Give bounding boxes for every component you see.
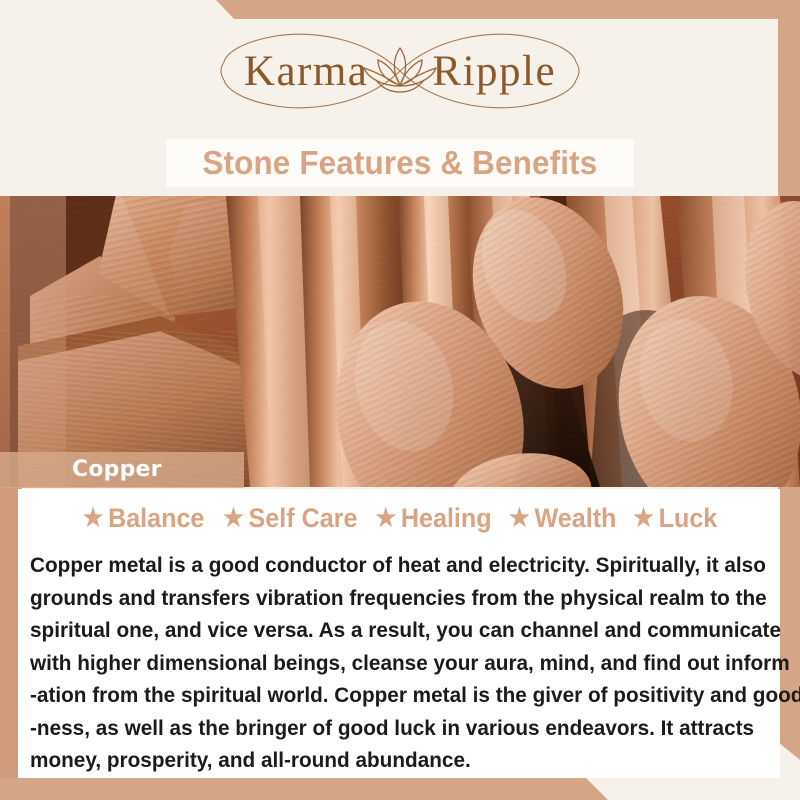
benefit-label: Wealth (535, 505, 617, 532)
benefit-item: ★ Self Care (223, 505, 357, 532)
infographic-page: Karma Ripple Stone Features & Benefits (0, 0, 800, 800)
description-line: Copper metal is a good conductor of heat… (30, 549, 744, 582)
benefits-list: ★ Balance ★ Self Care ★ Healing ★ Wealth… (18, 505, 780, 532)
decorative-bottom-band (0, 778, 640, 800)
copper-bars-illustration (0, 196, 800, 487)
benefit-label: Luck (658, 505, 717, 532)
section-title-banner: Stone Features & Benefits (166, 139, 634, 187)
section-title: Stone Features & Benefits (203, 144, 598, 182)
benefit-item: ★ Balance (82, 505, 204, 532)
description-line: with higher dimensional beings, cleanse … (30, 647, 744, 680)
logo-word-left: Karma (244, 50, 369, 93)
benefit-item: ★ Healing (376, 505, 492, 532)
benefit-item: ★ Wealth (509, 505, 616, 532)
benefit-label: Balance (108, 505, 204, 532)
description-line: -ness, as well as the bringer of good lu… (30, 712, 744, 745)
benefit-item: ★ Luck (633, 505, 717, 532)
stone-name-label: Copper (72, 459, 162, 481)
star-icon: ★ (633, 506, 654, 531)
copper-photo (0, 196, 800, 487)
decorative-top-band (0, 0, 800, 19)
brand-logo: Karma Ripple (0, 24, 800, 118)
star-icon: ★ (509, 506, 530, 531)
description-line: -ation from the spiritual world. Copper … (30, 679, 744, 712)
logo-word-right: Ripple (432, 50, 556, 93)
description-line: grounds and transfers vibration frequenc… (30, 582, 744, 615)
description-text: Copper metal is a good conductor of heat… (30, 549, 744, 777)
benefit-label: Self Care (248, 505, 357, 532)
description-line: money, prosperity, and all-round abundan… (30, 744, 744, 777)
stone-name-badge: Copper (0, 452, 244, 488)
logo-wordmark: Karma Ripple (244, 50, 556, 93)
content-card: ★ Balance ★ Self Care ★ Healing ★ Wealth… (18, 489, 780, 778)
description-line: spiritual one, and vice versa. As a resu… (30, 614, 744, 647)
star-icon: ★ (223, 506, 244, 531)
decorative-left-wash (0, 196, 66, 488)
star-icon: ★ (82, 506, 103, 531)
star-icon: ★ (376, 506, 397, 531)
benefit-label: Healing (401, 505, 492, 532)
